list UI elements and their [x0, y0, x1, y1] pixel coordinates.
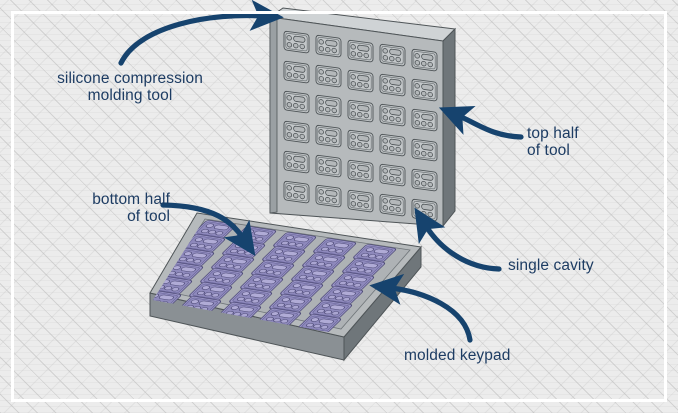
cavity	[284, 61, 309, 83]
cavity	[380, 164, 405, 186]
cavity	[348, 70, 373, 92]
cavity	[316, 125, 341, 147]
cavity	[316, 185, 341, 207]
cavity	[380, 194, 405, 216]
label-bottom-half-of-tool: bottom half of tool	[58, 191, 170, 225]
diagram-canvas: silicone compression molding tool bottom…	[0, 0, 678, 413]
cavity	[316, 95, 341, 117]
cavity	[348, 190, 373, 212]
arrow-to-single-cavity[interactable]	[426, 226, 499, 269]
cavity	[412, 199, 437, 221]
cavity	[316, 155, 341, 177]
label-molded-keypad: molded keypad	[404, 347, 554, 364]
label-single-cavity: single cavity	[508, 257, 638, 274]
cavity	[284, 31, 309, 53]
cavity	[284, 121, 309, 143]
cavity	[380, 74, 405, 96]
cavity	[284, 91, 309, 113]
cavity	[412, 139, 437, 161]
cavity	[284, 181, 309, 203]
label-silicone-compression-molding-tool: silicone compression molding tool	[40, 70, 220, 104]
cavity	[412, 169, 437, 191]
cavity	[380, 44, 405, 66]
top-plate-left-edge	[270, 17, 277, 213]
cavity	[316, 65, 341, 87]
label-top-half-of-tool: top half of tool	[527, 125, 637, 159]
cavity	[380, 104, 405, 126]
cavity	[412, 79, 437, 101]
cavity	[348, 160, 373, 182]
cavity	[412, 109, 437, 131]
cavity	[284, 151, 309, 173]
cavity	[316, 35, 341, 57]
cavity	[380, 134, 405, 156]
cavity	[348, 100, 373, 122]
top-half-of-tool[interactable]	[270, 8, 455, 226]
cavity	[348, 40, 373, 62]
cavity	[412, 49, 437, 71]
cavity	[348, 130, 373, 152]
arrow-to-top-plate[interactable]	[121, 16, 262, 63]
bottom-half-of-tool[interactable]	[137, 213, 421, 360]
top-plate-right-side	[443, 29, 455, 226]
arrow-to-molded-keypad[interactable]	[391, 288, 470, 340]
arrow-to-top-half[interactable]	[459, 116, 521, 137]
